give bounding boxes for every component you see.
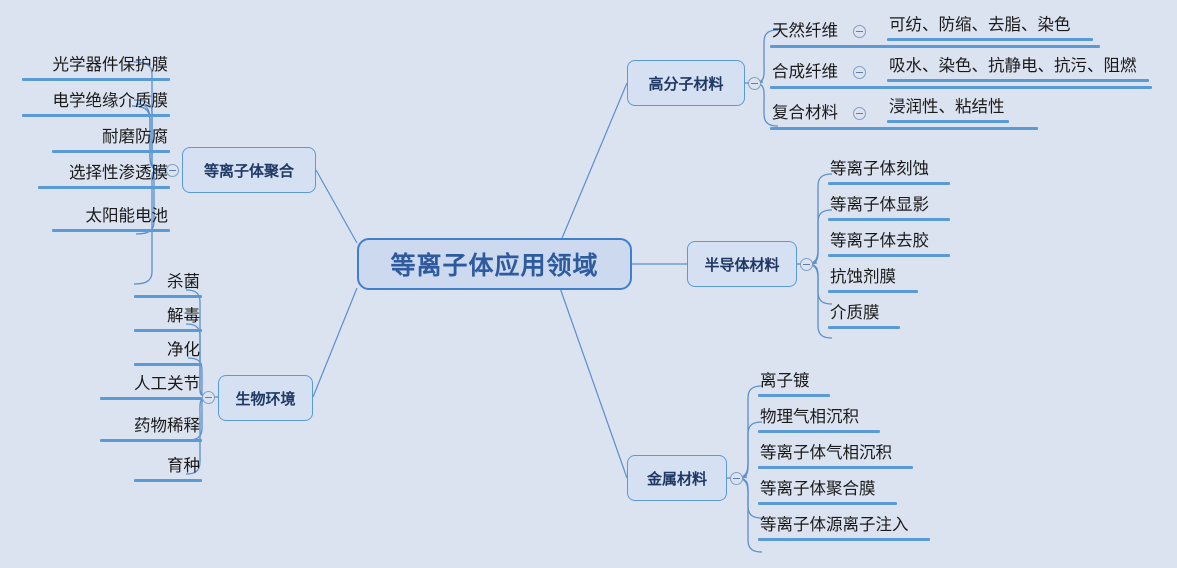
leaf-solar-cell[interactable]: 太阳能电池 — [52, 208, 170, 232]
leaf-natural-fiber-props[interactable]: 可纺、防缩、去脂、染色 — [887, 17, 1093, 41]
leaf-underline — [887, 120, 1009, 123]
leaf-underline — [758, 466, 913, 469]
leaf-label: 杀菌 — [134, 274, 202, 295]
leaf-label: 物理气相沉积 — [758, 409, 880, 430]
minus-circle-icon-natural-fiber[interactable] — [853, 25, 866, 38]
leaf-label: 吸水、染色、抗静电、抗污、阻燃 — [887, 58, 1149, 79]
leaf-purification[interactable]: 净化 — [134, 342, 202, 366]
leaf-ion-plating[interactable]: 离子镀 — [758, 373, 830, 397]
leaf-pecvd[interactable]: 等离子体气相沉积 — [758, 445, 913, 469]
leaf-label: 等离子体刻蚀 — [828, 161, 950, 182]
leaf-optical-protective-film[interactable]: 光学器件保护膜 — [22, 57, 170, 81]
leaf-underline — [22, 114, 170, 117]
leaf-plasma-developing[interactable]: 等离子体显影 — [828, 197, 950, 221]
leaf-synthetic-fiber-props[interactable]: 吸水、染色、抗静电、抗污、阻燃 — [887, 58, 1149, 82]
leaf-dielectric-film[interactable]: 介质膜 — [828, 305, 900, 329]
leaf-label: 光学器件保护膜 — [22, 57, 170, 78]
leaf-label: 解毒 — [134, 308, 202, 329]
leaf-artificial-joint[interactable]: 人工关节 — [100, 376, 202, 400]
leaf-label: 等离子体显影 — [828, 197, 950, 218]
leaf-underline — [22, 78, 170, 81]
leaf-electrical-insulating-film[interactable]: 电学绝缘介质膜 — [22, 93, 170, 117]
leaf-underline — [828, 218, 950, 221]
leaf-underline — [887, 38, 1093, 41]
leaf-resist-film[interactable]: 抗蚀剂膜 — [828, 269, 918, 293]
minus-circle-icon-plasma-polymerization[interactable] — [166, 164, 179, 177]
leaf-underline — [828, 182, 950, 185]
leaf-underline — [134, 329, 202, 332]
minus-circle-icon-metal[interactable] — [730, 472, 743, 485]
leaf-pvd[interactable]: 物理气相沉积 — [758, 409, 880, 433]
branch-bio-environment-label: 生物环境 — [235, 388, 295, 409]
leaf-composite-props[interactable]: 浸润性、粘结性 — [887, 99, 1009, 123]
branch-polymer[interactable]: 高分子材料 — [627, 60, 745, 106]
leaf-label: 药物稀释 — [100, 418, 202, 439]
leaf-underline — [134, 295, 202, 298]
branch-semiconductor-label: 半导体材料 — [704, 254, 779, 275]
branch-plasma-polymerization-label: 等离子体聚合 — [204, 160, 294, 181]
leaf-underline — [758, 502, 897, 505]
leaf-label: 电学绝缘介质膜 — [22, 93, 170, 114]
branch-metal-label: 金属材料 — [647, 468, 707, 489]
leaf-underline — [828, 326, 900, 329]
subtopic-underline — [770, 127, 1038, 130]
leaf-label: 耐磨防腐 — [52, 129, 170, 150]
leaf-label: 抗蚀剂膜 — [828, 269, 918, 290]
branch-plasma-polymerization[interactable]: 等离子体聚合 — [182, 147, 316, 193]
leaf-underline — [134, 363, 202, 366]
minus-circle-icon-synthetic-fiber[interactable] — [853, 66, 866, 79]
leaf-underline — [887, 79, 1149, 82]
leaf-breeding[interactable]: 育种 — [134, 458, 202, 482]
leaf-label: 等离子体气相沉积 — [758, 445, 913, 466]
leaf-label: 等离子体源离子注入 — [758, 517, 930, 538]
leaf-label: 人工关节 — [100, 376, 202, 397]
leaf-underline — [828, 290, 918, 293]
leaf-underline — [758, 430, 880, 433]
minus-circle-icon-semiconductor[interactable] — [800, 258, 813, 271]
leaf-underline — [38, 186, 170, 189]
central-topic[interactable]: 等离子体应用领域 — [357, 238, 632, 290]
leaf-wear-corrosion-resistant[interactable]: 耐磨防腐 — [52, 129, 170, 153]
subtopic-underline — [770, 45, 1100, 48]
leaf-plasma-polymer-film[interactable]: 等离子体聚合膜 — [758, 481, 897, 505]
branch-bio-environment[interactable]: 生物环境 — [218, 375, 313, 421]
leaf-underline — [134, 479, 202, 482]
leaf-drug-dilution[interactable]: 药物稀释 — [100, 418, 202, 442]
leaf-plasma-source-ion-implant[interactable]: 等离子体源离子注入 — [758, 517, 930, 541]
leaf-detoxification[interactable]: 解毒 — [134, 308, 202, 332]
central-topic-label: 等离子体应用领域 — [390, 246, 598, 282]
leaf-plasma-stripping[interactable]: 等离子体去胶 — [828, 233, 950, 257]
leaf-label: 选择性渗透膜 — [38, 165, 170, 186]
leaf-label: 等离子体聚合膜 — [758, 481, 897, 502]
leaf-selective-permeable-film[interactable]: 选择性渗透膜 — [38, 165, 170, 189]
leaf-label: 育种 — [134, 458, 202, 479]
leaf-label: 浸润性、粘结性 — [887, 99, 1009, 120]
leaf-plasma-etching[interactable]: 等离子体刻蚀 — [828, 161, 950, 185]
subtopic-underline — [770, 86, 1152, 89]
branch-metal[interactable]: 金属材料 — [627, 455, 727, 501]
leaf-label: 净化 — [134, 342, 202, 363]
leaf-underline — [52, 229, 170, 232]
leaf-label: 可纺、防缩、去脂、染色 — [887, 17, 1093, 38]
minus-circle-icon-polymer[interactable] — [748, 77, 761, 90]
leaf-underline — [100, 439, 202, 442]
leaf-label: 太阳能电池 — [52, 208, 170, 229]
leaf-label: 离子镀 — [758, 373, 830, 394]
minus-circle-icon-bio-environment[interactable] — [202, 391, 215, 404]
branch-polymer-label: 高分子材料 — [648, 73, 723, 94]
leaf-underline — [758, 538, 930, 541]
leaf-label: 介质膜 — [828, 305, 900, 326]
leaf-sterilization[interactable]: 杀菌 — [134, 274, 202, 298]
leaf-underline — [828, 254, 950, 257]
leaf-underline — [758, 394, 830, 397]
branch-semiconductor[interactable]: 半导体材料 — [687, 241, 797, 287]
leaf-underline — [100, 397, 202, 400]
leaf-underline — [52, 150, 170, 153]
leaf-label: 等离子体去胶 — [828, 233, 950, 254]
mindmap-canvas: 等离子体应用领域 高分子材料 天然纤维 可纺、防缩、去脂、染色 合成纤维 吸水、… — [0, 0, 1177, 568]
minus-circle-icon-composite[interactable] — [853, 107, 866, 120]
